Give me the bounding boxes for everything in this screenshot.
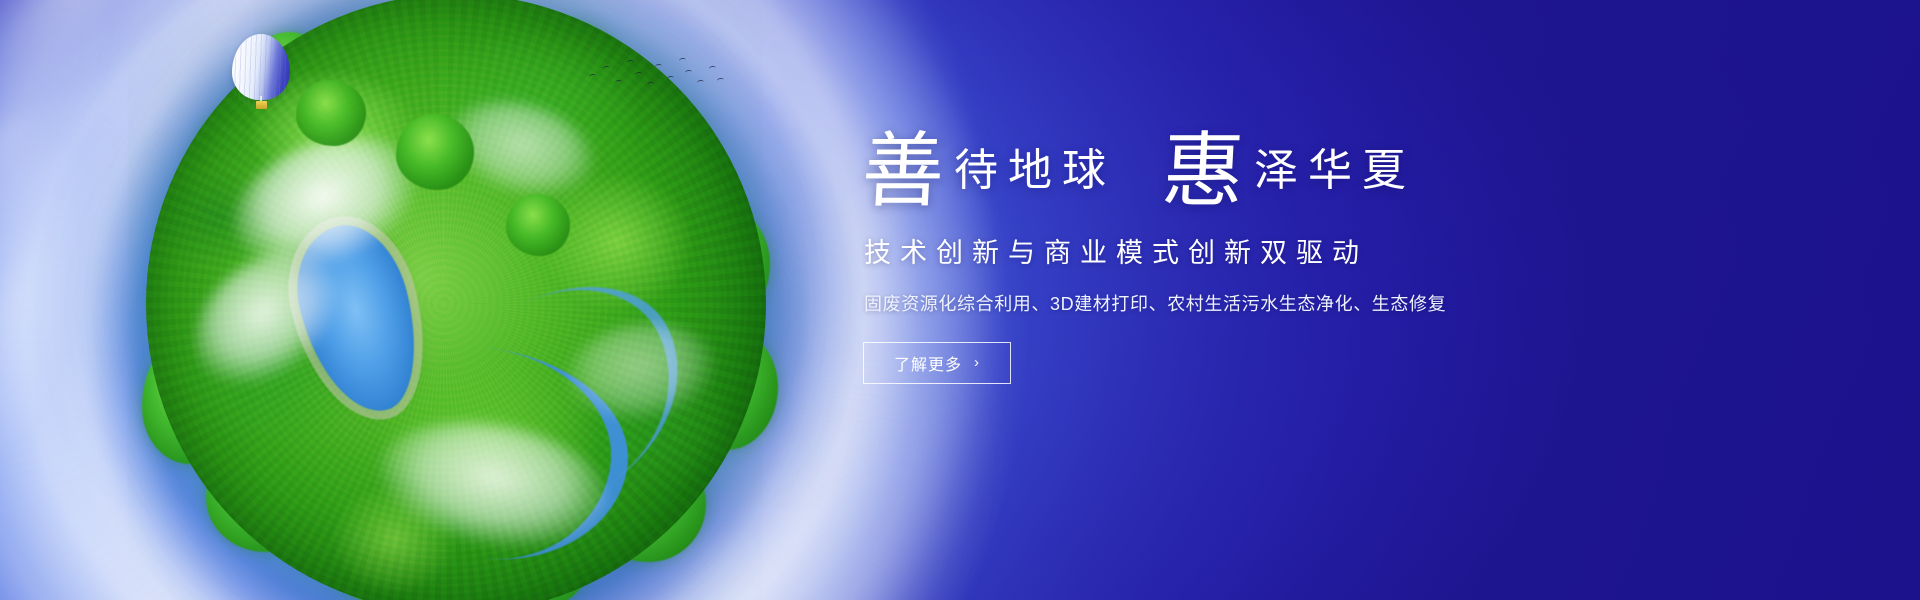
banner-content: 善 待地球 惠 泽华夏 技术创新与商业模式创新双驱动 固废资源化综合利用、3D建… xyxy=(862,130,1822,384)
headline-text-primary: 待地球 xyxy=(944,149,1116,193)
headline-text-secondary: 泽华夏 xyxy=(1244,149,1416,193)
bird-icon xyxy=(685,70,693,76)
hero-banner: 善 待地球 惠 泽华夏 技术创新与商业模式创新双驱动 固废资源化综合利用、3D建… xyxy=(0,0,1920,600)
bird-icon xyxy=(615,80,623,86)
bird-icon xyxy=(697,80,705,86)
bird-icon xyxy=(667,76,675,82)
bird-icon xyxy=(679,58,687,64)
bird-icon xyxy=(717,78,725,84)
headline-char-secondary: 惠 xyxy=(1160,134,1246,209)
balloon-basket xyxy=(256,101,267,109)
bird-icon xyxy=(647,82,655,88)
page-title: 善 待地球 惠 泽华夏 xyxy=(862,130,1822,205)
bird-icon xyxy=(589,74,597,80)
hot-air-balloon-icon xyxy=(232,34,290,108)
bird-icon xyxy=(635,72,643,78)
banner-description: 固废资源化综合利用、3D建材打印、农村生活污水生态净化、生态修复 xyxy=(864,290,1822,316)
learn-more-button[interactable]: 了解更多 › xyxy=(863,342,1011,384)
bird-icon xyxy=(627,60,635,66)
bird-icon xyxy=(709,66,717,72)
birds-flock-icon xyxy=(585,52,725,98)
learn-more-label: 了解更多 xyxy=(894,351,962,375)
bird-icon xyxy=(655,64,663,70)
bird-icon xyxy=(603,66,611,72)
banner-subtitle: 技术创新与商业模式创新双驱动 xyxy=(864,231,1822,270)
headline-char-primary: 善 xyxy=(860,134,946,209)
chevron-right-icon: › xyxy=(974,355,980,370)
